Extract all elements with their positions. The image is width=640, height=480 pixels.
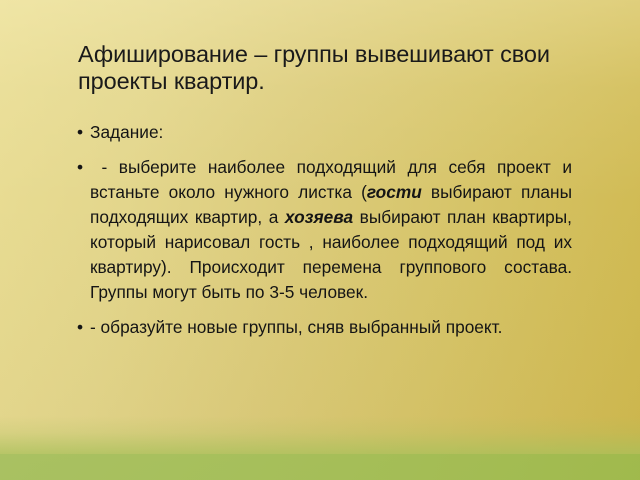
bullet-item-instructions: • - выберите наиболее подходящий для себ… <box>72 155 572 305</box>
bullet-item-task: • Задание: <box>72 120 572 145</box>
slide-body: • Задание: • - выберите наиболее подходя… <box>72 120 572 340</box>
slide-title: Афиширование – группы вывешивают свои пр… <box>78 41 558 95</box>
bullet-item-regroup: • - образуйте новые группы, сняв выбранн… <box>72 315 572 340</box>
presentation-slide: Афиширование – группы вывешивают свои пр… <box>0 0 640 480</box>
instructions-emphasis-guests: гости <box>367 182 422 202</box>
bullet-marker-icon: • <box>77 155 89 180</box>
slide-content: Афиширование – группы вывешивают свои пр… <box>0 0 640 480</box>
bullet-text-task: Задание: <box>90 120 572 145</box>
bullet-text-regroup: - образуйте новые группы, сняв выбранный… <box>90 315 572 340</box>
bullet-marker-icon: • <box>77 315 89 340</box>
bullet-marker-icon: • <box>77 120 89 145</box>
bullet-text-instructions: - выберите наиболее подходящий для себя … <box>90 155 572 305</box>
instructions-emphasis-hosts: хозяева <box>285 207 353 227</box>
